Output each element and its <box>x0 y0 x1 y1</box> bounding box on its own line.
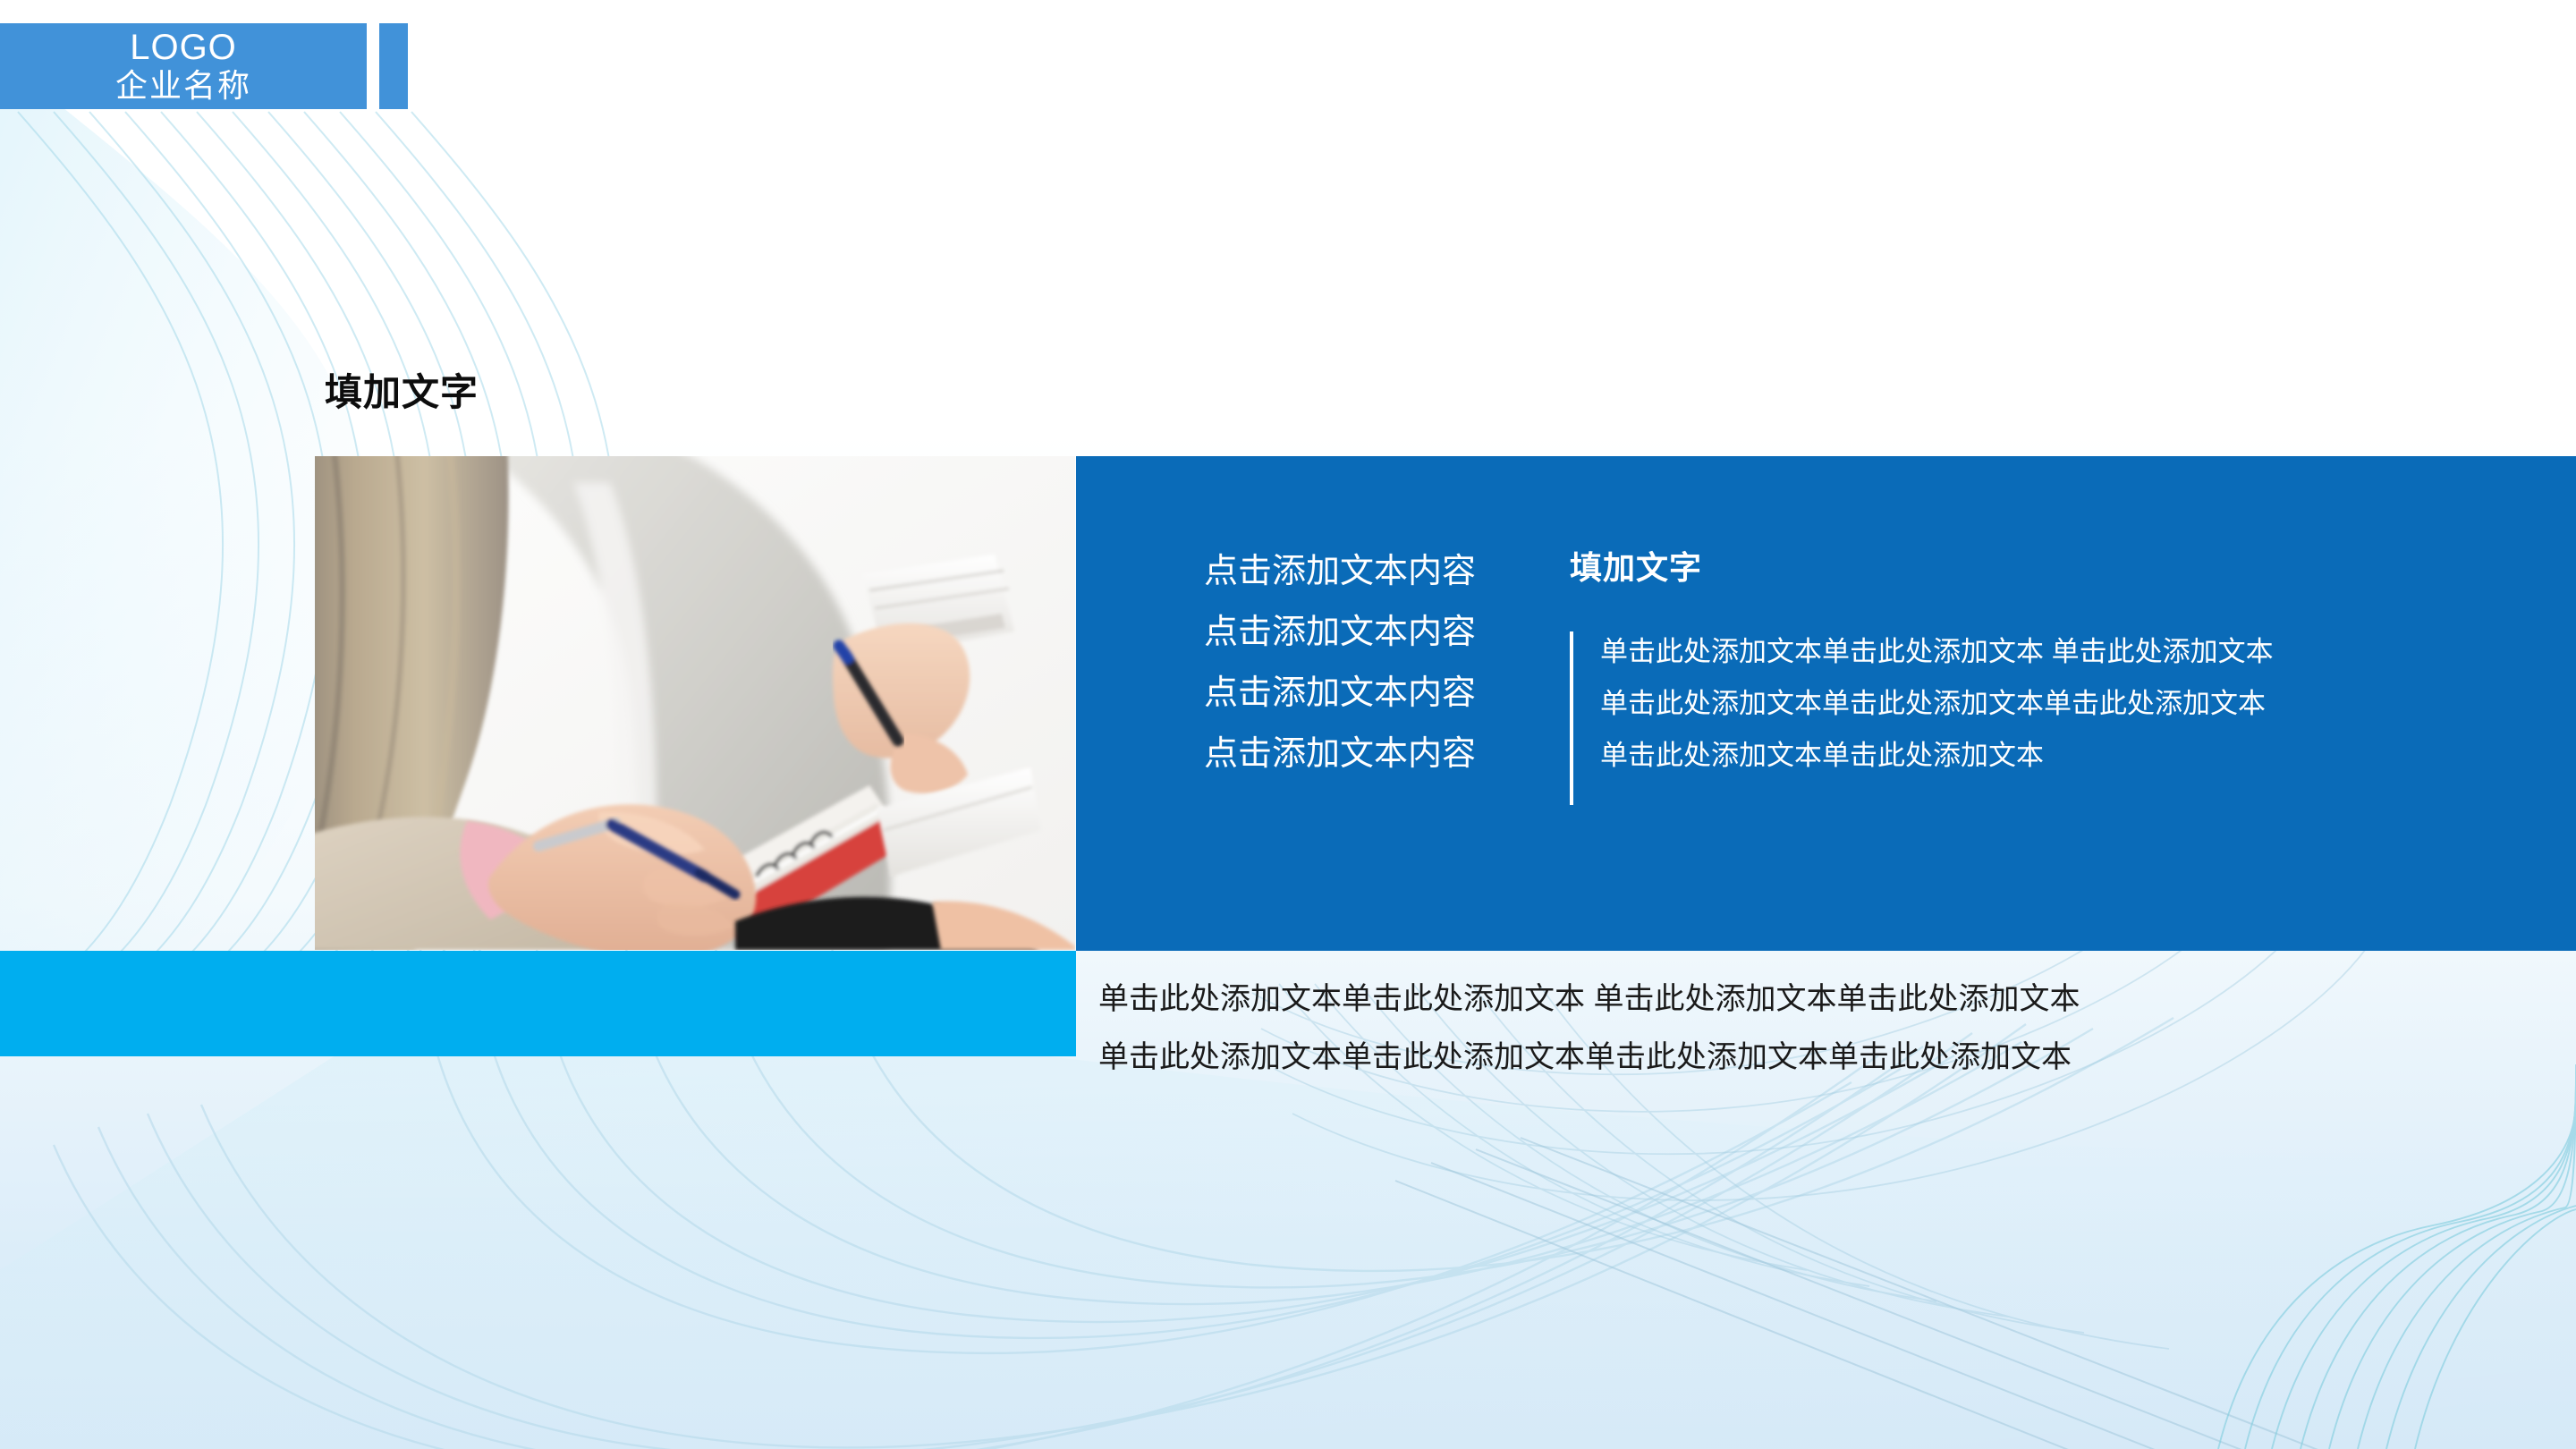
panel-body: 单击此处添加文本单击此处添加文本 单击此处添加文本 单击此处添加文本单击此处添加… <box>1570 626 2522 782</box>
bullet-list: 点击添加文本内容 点击添加文本内容 点击添加文本内容 点击添加文本内容 <box>1148 549 1532 776</box>
body-line[interactable]: 单击此处添加文本单击此处添加文本 单击此处添加文本 <box>1600 626 2522 678</box>
company-name: 企业名称 <box>115 67 251 105</box>
blue-content-panel: 点击添加文本内容 点击添加文本内容 点击添加文本内容 点击添加文本内容 填加文字… <box>1076 456 2576 951</box>
cyan-accent-band <box>0 951 1076 1056</box>
bottom-text-block: 单击此处添加文本单击此处添加文本 单击此处添加文本单击此处添加文本 单击此处添加… <box>1098 970 2547 1087</box>
photo-illustration <box>315 456 1075 950</box>
logo-accent-bar <box>379 23 408 109</box>
bullet-item[interactable]: 点击添加文本内容 <box>1148 671 1532 716</box>
page-title: 填加文字 <box>325 362 479 417</box>
bullet-item[interactable]: 点击添加文本内容 <box>1148 549 1532 594</box>
logo-block[interactable]: LOGO 企业名称 <box>0 23 367 109</box>
bullet-item[interactable]: 点击添加文本内容 <box>1148 732 1532 776</box>
bottom-line[interactable]: 单击此处添加文本单击此处添加文本 单击此处添加文本单击此处添加文本 <box>1098 970 2547 1029</box>
body-line[interactable]: 单击此处添加文本单击此处添加文本 <box>1600 730 2522 782</box>
panel-right-column: 填加文字 单击此处添加文本单击此处添加文本 单击此处添加文本 单击此处添加文本单… <box>1570 542 2522 782</box>
bottom-line[interactable]: 单击此处添加文本单击此处添加文本单击此处添加文本单击此处添加文本 <box>1098 1029 2547 1087</box>
body-line[interactable]: 单击此处添加文本单击此处添加文本单击此处添加文本 <box>1600 678 2522 730</box>
logo-text: LOGO <box>130 28 237 67</box>
slide-canvas: LOGO 企业名称 填加文字 <box>0 0 2576 1449</box>
vertical-divider <box>1570 631 1573 805</box>
bullet-item[interactable]: 点击添加文本内容 <box>1148 610 1532 655</box>
panel-heading: 填加文字 <box>1570 542 2522 589</box>
content-photo <box>315 456 1075 950</box>
